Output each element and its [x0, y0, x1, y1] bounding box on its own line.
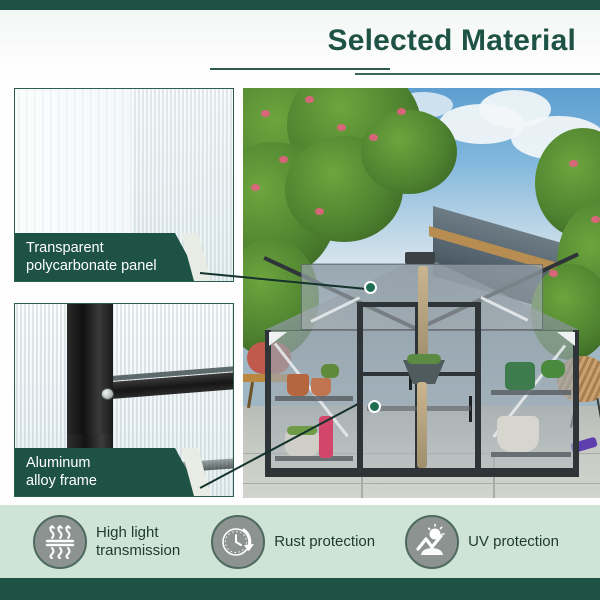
blossom: [337, 124, 346, 131]
card-label-banner: Aluminum alloy frame: [15, 448, 201, 496]
callout-dot-panel: [364, 281, 377, 294]
card-label-line-1: Transparent: [26, 239, 201, 257]
blossom: [397, 108, 406, 115]
stone-planter: [285, 432, 319, 456]
terracotta-pot: [311, 378, 331, 396]
blossom: [369, 134, 378, 141]
roof-vent: [405, 252, 435, 264]
title-underline-secondary: [355, 73, 600, 75]
title-underline-primary: [210, 68, 390, 70]
blossom: [279, 156, 288, 163]
plant-foliage: [321, 364, 339, 378]
hanging-rope: [418, 266, 428, 362]
interior-shelf: [491, 390, 571, 395]
blossom: [315, 208, 324, 215]
hanging-rope-lower: [417, 382, 427, 468]
feature-label: UV protection: [468, 533, 559, 551]
hanging-plant-foliage: [407, 354, 441, 364]
bench-leg: [247, 382, 254, 408]
terracotta-pot: [287, 374, 309, 396]
light-transmission-icon: [33, 515, 87, 569]
paver-joint: [243, 483, 600, 485]
material-card-polycarbonate: Transparent polycarbonate panel: [14, 88, 234, 282]
bottom-accent-bar: [0, 578, 600, 600]
greenhouse-structure: [265, 256, 579, 476]
frame-vertical-post: [67, 304, 113, 434]
callout-dot-frame: [368, 400, 381, 413]
blossom: [591, 216, 600, 223]
plant-foliage: [541, 360, 565, 378]
interior-shelf: [491, 452, 571, 457]
feature-label: Rust protection: [274, 533, 375, 551]
tree-foliage: [361, 110, 457, 194]
uv-protection-icon: [405, 515, 459, 569]
base-rail: [265, 468, 579, 477]
feature-bar: High light transmission Rust protection: [0, 505, 600, 578]
header-band: Selected Material: [0, 10, 600, 76]
feature-uv-protection: UV protection: [405, 515, 559, 569]
corner-post-left: [265, 330, 271, 476]
card-label-banner: Transparent polycarbonate panel: [15, 233, 201, 281]
white-planter: [497, 416, 539, 452]
interior-shelf: [275, 396, 353, 401]
blossom: [569, 160, 578, 167]
blossom: [251, 184, 260, 191]
page-title: Selected Material: [327, 24, 576, 58]
corner-post-right: [573, 330, 579, 476]
feature-rust-protection: Rust protection: [211, 515, 375, 569]
card-label-line-2: alloy frame: [26, 472, 201, 490]
green-planter: [505, 362, 535, 390]
blossom: [305, 96, 314, 103]
door-post-right: [475, 302, 481, 476]
infographic-page: Selected Material Transparent polycarbon…: [0, 0, 600, 600]
feature-label: High light transmission: [96, 524, 180, 560]
card-label-line-1: Aluminum: [26, 454, 201, 472]
card-label-line-2: polycarbonate panel: [26, 257, 201, 275]
frame-screw-icon: [101, 388, 114, 400]
interior-shelf: [275, 456, 353, 461]
blossom: [261, 110, 270, 117]
top-accent-bar: [0, 0, 600, 10]
door-post-left: [357, 302, 363, 476]
feature-high-light-transmission: High light transmission: [33, 515, 180, 569]
material-card-aluminum-frame: Aluminum alloy frame: [14, 303, 234, 497]
clock-rust-protection-icon: [211, 515, 265, 569]
